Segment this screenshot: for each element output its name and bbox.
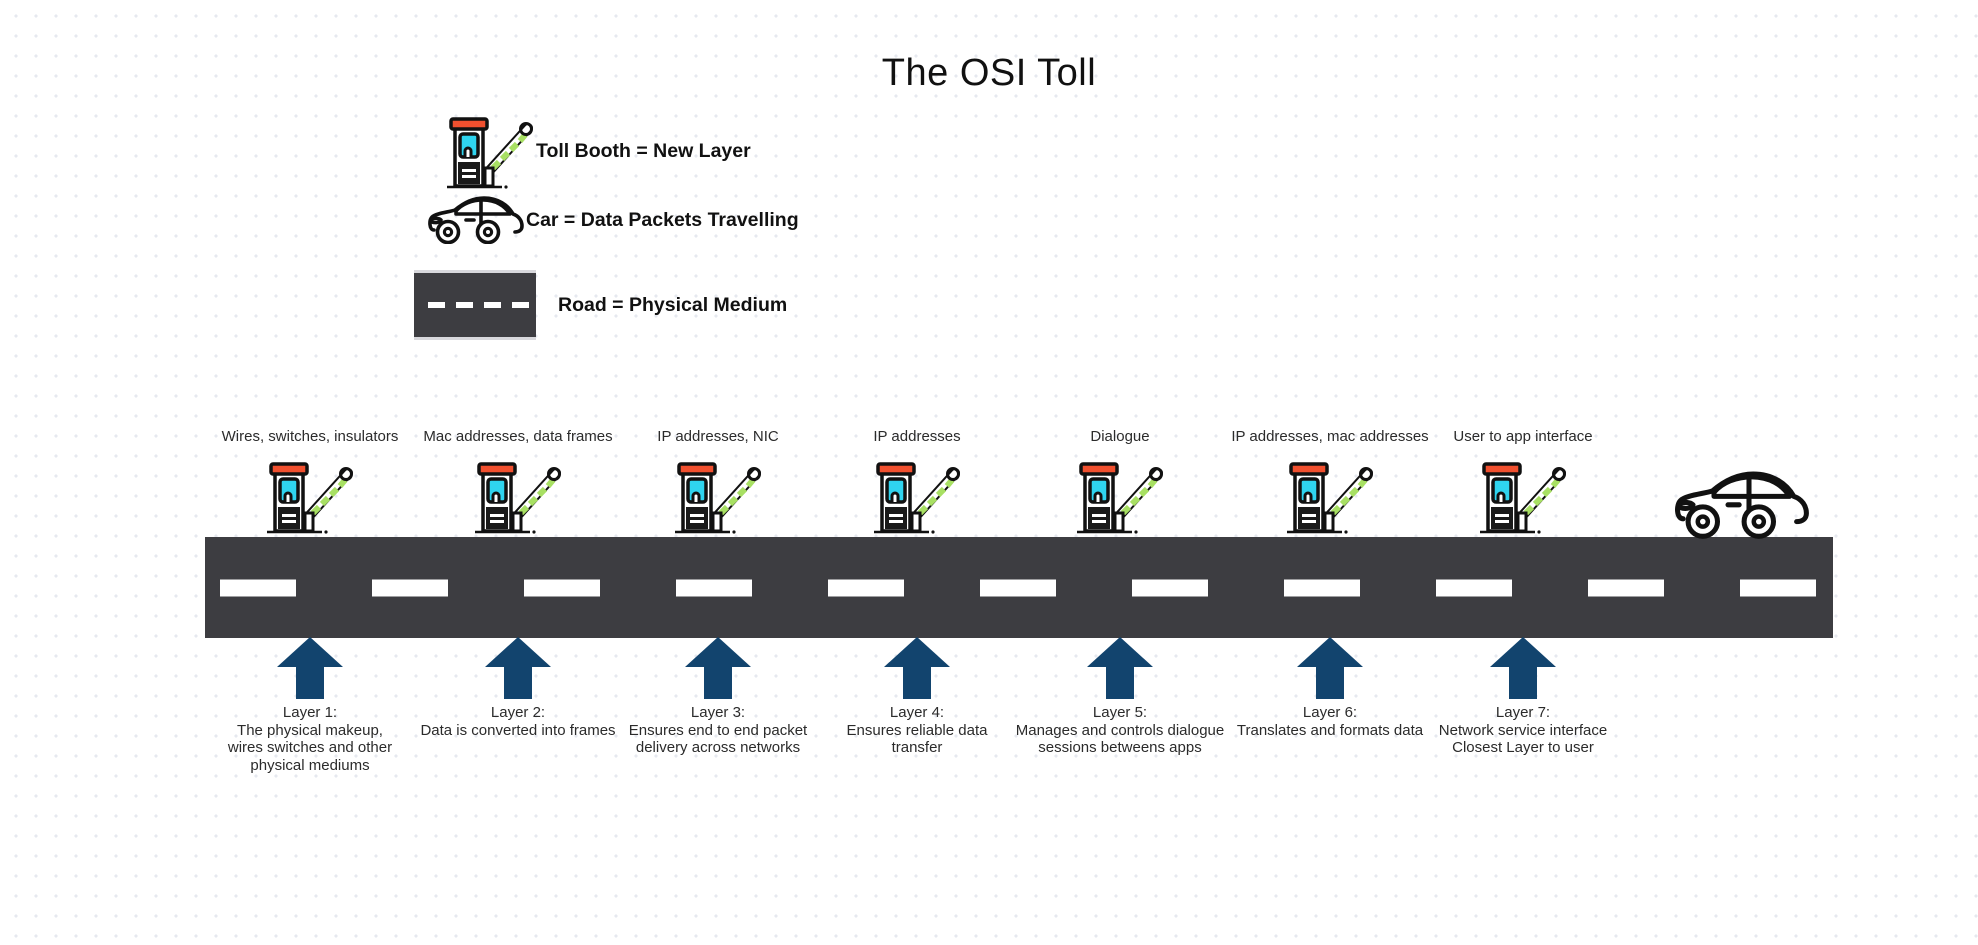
toll-booth-icon [1477, 455, 1569, 537]
layer-line: wires switches and other [195, 739, 425, 757]
layer-line: The physical makeup, [195, 722, 425, 740]
layer-line: Network service interface [1408, 722, 1638, 740]
arrow-up-layer-5 [1087, 637, 1153, 704]
arrow-up-layer-7 [1490, 637, 1556, 704]
top-label-layer-2: Mac addresses, data frames [423, 428, 612, 445]
toll-booth-icon [871, 455, 963, 537]
layer-line: physical mediums [195, 757, 425, 775]
top-label-layer-6: IP addresses, mac addresses [1231, 428, 1428, 445]
top-label-layer-3: IP addresses, NIC [657, 428, 778, 445]
arrow-up-layer-2 [485, 637, 551, 704]
arrow-up-layer-6 [1297, 637, 1363, 704]
toll-booth-icon [472, 455, 564, 537]
layer-description-7: Layer 7: Network service interface Close… [1408, 704, 1638, 757]
layer-line: Ensures end to end packet [603, 722, 833, 740]
top-label-layer-5: Dialogue [1090, 428, 1149, 445]
arrow-up-layer-1 [277, 637, 343, 704]
layer-name-1: Layer 1: [195, 704, 425, 722]
toll-booth-icon [264, 455, 356, 537]
car-icon [1672, 465, 1812, 544]
layer-name-2: Layer 2: [403, 704, 633, 722]
toll-booth-icon [672, 455, 764, 537]
layer-line: delivery across networks [603, 739, 833, 757]
arrow-up-layer-4 [884, 637, 950, 704]
layer-line: Closest Layer to user [1408, 739, 1638, 757]
top-label-layer-7: User to app interface [1453, 428, 1592, 445]
toll-booth-icon [1284, 455, 1376, 537]
osi-toll-diagram: Wires, switches, insulators Layer 1: The… [0, 0, 1978, 945]
layer-line: sessions betweens apps [990, 739, 1250, 757]
layer-description-3: Layer 3: Ensures end to end packet deliv… [603, 704, 833, 757]
layer-name-7: Layer 7: [1408, 704, 1638, 722]
top-label-layer-1: Wires, switches, insulators [222, 428, 399, 445]
layer-description-2: Layer 2: Data is converted into frames [403, 704, 633, 739]
top-label-layer-4: IP addresses [873, 428, 960, 445]
layer-description-1: Layer 1: The physical makeup, wires swit… [195, 704, 425, 774]
road-strip [205, 537, 1833, 638]
layer-line: Data is converted into frames [403, 722, 633, 740]
layer-name-3: Layer 3: [603, 704, 833, 722]
toll-booth-icon [1074, 455, 1166, 537]
arrow-up-layer-3 [685, 637, 751, 704]
